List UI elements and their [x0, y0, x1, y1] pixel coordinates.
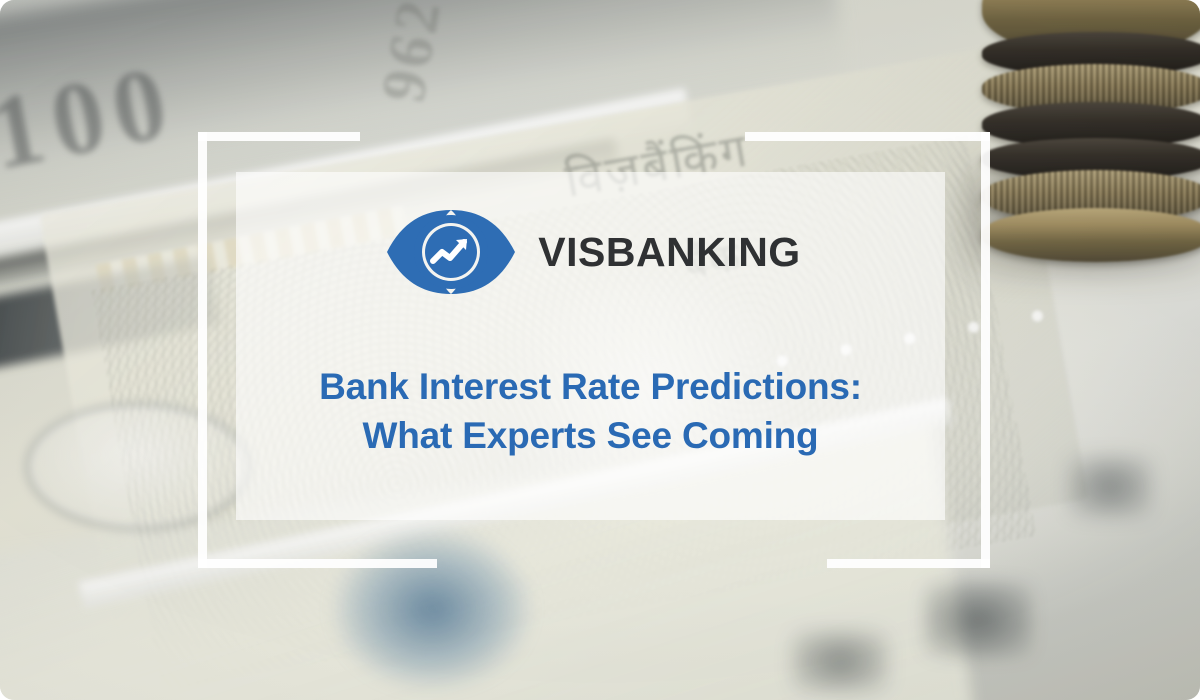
coin-7 — [982, 208, 1200, 262]
eye-chart-logo-icon — [380, 204, 522, 300]
photo-shadow-a — [924, 581, 1032, 658]
hero-banner: 100 962 विज़बैंकिंग बैंक — [0, 0, 1200, 700]
coin-stack — [982, 0, 1200, 290]
brand-logo[interactable]: VISBANKING — [380, 204, 800, 300]
content-panel: VISBANKING Bank Interest Rate Prediction… — [236, 172, 945, 520]
photo-shadow-c — [1068, 455, 1152, 518]
banknote-foreground-oval — [24, 401, 252, 532]
photo-shadow-b — [792, 630, 888, 693]
page-title-line-1: Bank Interest Rate Predictions: — [319, 362, 862, 411]
page-title: Bank Interest Rate Predictions: What Exp… — [291, 362, 890, 460]
banknote-blue-seal — [336, 532, 528, 686]
page-title-line-2: What Experts See Coming — [319, 411, 862, 460]
brand-wordmark: VISBANKING — [538, 232, 800, 273]
